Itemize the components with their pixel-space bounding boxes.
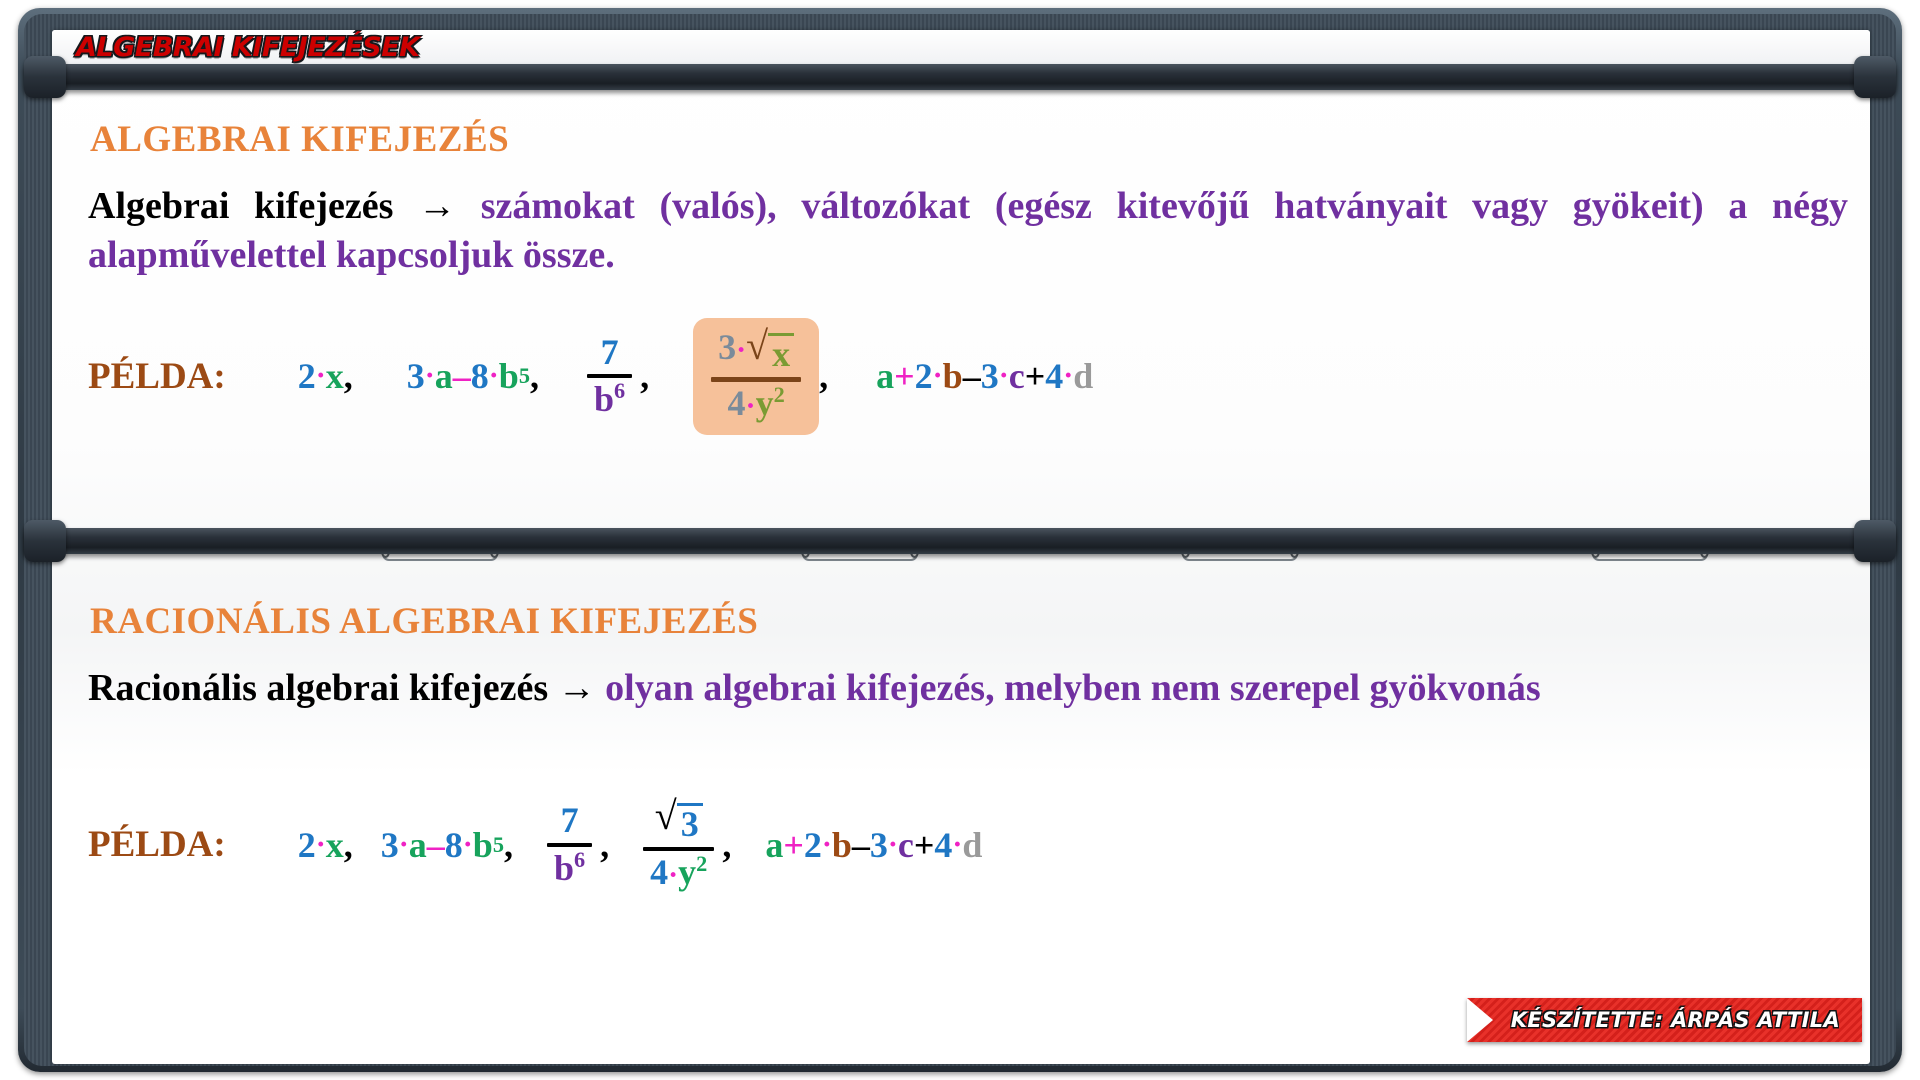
var-d: d (962, 824, 982, 866)
minus-sign: – (852, 824, 870, 866)
minus-sign: – (427, 824, 445, 866)
expression-2x: 2·x, (298, 355, 353, 397)
fraction-bar (587, 374, 632, 378)
denominator-4y2: 4·y2 (643, 854, 714, 892)
var-b: b (943, 355, 963, 397)
whiteboard-frame: ALGEBRAI KIFEJEZÉSEK ALGEBRAI KIFEJEZÉS … (18, 8, 1902, 1072)
denominator-b6: b6 (547, 850, 592, 888)
mul-dot: · (489, 361, 499, 391)
definition-term-1: Algebrai kifejezés (88, 185, 393, 227)
num-2: 2 (298, 355, 316, 397)
denominator-b6: b6 (587, 381, 632, 419)
clamp-bar-top (24, 64, 1896, 90)
section-heading-1: ALGEBRAI KIFEJEZÉS (90, 118, 509, 161)
denominator-4y2: 4·y2 (721, 385, 792, 423)
fraction-bar (547, 843, 592, 847)
comma: , (722, 824, 731, 866)
comma: , (504, 824, 513, 866)
exponent-2: 2 (696, 851, 707, 876)
expression-sum-1: a+2·b–3·c+4·d (876, 355, 1093, 397)
num-4: 4 (650, 852, 668, 892)
plus-sign: + (783, 824, 804, 866)
radical: √x (746, 328, 794, 374)
mul-dot: · (316, 361, 326, 391)
mul-dot: · (952, 830, 962, 860)
num-3: 3 (407, 355, 425, 397)
comma: , (530, 355, 539, 397)
expression-2x: 2·x, (298, 824, 353, 866)
radicand-3: 3 (677, 803, 703, 844)
mul-dot: · (1063, 361, 1073, 391)
example-label-1: PÉLDA: (88, 355, 226, 398)
mul-dot: · (425, 361, 435, 391)
fraction-bar (711, 377, 801, 382)
clamp-knob-right (1854, 520, 1896, 562)
comma: , (344, 355, 353, 397)
mul-dot: · (999, 361, 1009, 391)
comma: , (819, 355, 828, 397)
expression-3sqrtx-over-4y2: 3·√x 4·y2 , (693, 318, 828, 435)
var-b: b (499, 355, 519, 397)
highlight-box: 3·√x 4·y2 (693, 318, 819, 435)
arrow-glyph-2: → (558, 667, 596, 709)
mul-dot: · (822, 830, 832, 860)
var-x: x (326, 824, 344, 866)
var-x: x (326, 355, 344, 397)
num-2: 2 (915, 355, 933, 397)
expression-7-over-b6: 7 b6 , (587, 334, 649, 420)
num-4: 4 (1045, 355, 1063, 397)
var-y: y (756, 383, 774, 423)
mul-dot: · (888, 830, 898, 860)
arrow-glyph-1: → (418, 185, 456, 227)
var-b: b (832, 824, 852, 866)
plus-sign: + (914, 824, 935, 866)
numerator-sqrt-3: √3 (648, 798, 710, 844)
var-d: d (1073, 355, 1093, 397)
num-4: 4 (934, 824, 952, 866)
definition-term-2: Racionális algebrai kifejezés (88, 667, 548, 709)
num-2: 2 (804, 824, 822, 866)
ribbon-body: KÉSZÍTETTE: ÁRPÁS ATTILA (1467, 998, 1862, 1042)
comma: , (600, 824, 609, 866)
credit-text: KÉSZÍTETTE: ÁRPÁS ATTILA (1511, 1008, 1840, 1032)
num-8: 8 (471, 355, 489, 397)
var-a: a (409, 824, 427, 866)
comma: , (344, 824, 353, 866)
var-b: b (554, 848, 574, 888)
expression-sqrt3-over-4y2: √3 4·y2 , (643, 798, 731, 892)
var-c: c (898, 824, 914, 866)
definition-paragraph-2: Racionális algebrai kifejezés → olyan al… (88, 664, 1848, 713)
radical: √3 (655, 798, 703, 844)
mul-dot: · (933, 361, 943, 391)
radical-sign: √ (655, 798, 677, 834)
plus-sign: + (894, 355, 915, 397)
mul-dot: · (736, 334, 746, 367)
var-a: a (765, 824, 783, 866)
expression-3a-8b5: 3·a–8·b5, (407, 355, 539, 397)
num-3: 3 (981, 355, 999, 397)
expression-7-over-b6: 7 b6 , (547, 802, 609, 888)
examples-row-2: PÉLDA: 2·x, 3·a–8·b5, 7 b6 , (88, 798, 982, 892)
section-racionalis-algebrai-kifejezes: RACIONÁLIS ALGEBRAI KIFEJEZÉS Racionális… (52, 570, 1870, 1064)
section-algebrai-kifejezes: ALGEBRAI KIFEJEZÉS Algebrai kifejezés → … (52, 90, 1870, 560)
var-y: y (678, 852, 696, 892)
definition-body-2: olyan algebrai kifejezés, melyben nem sz… (605, 667, 1540, 709)
mul-dot: · (668, 859, 678, 892)
num-2: 2 (298, 824, 316, 866)
expression-3a-8b5: 3·a–8·b5, (381, 824, 513, 866)
minus-sign: – (963, 355, 981, 397)
ribbon-notch-icon (1467, 998, 1493, 1042)
num-3: 3 (718, 327, 736, 367)
numerator-3-sqrt-x: 3·√x (711, 328, 801, 374)
mul-dot: · (399, 830, 409, 860)
num-4: 4 (728, 383, 746, 423)
fraction: 7 b6 (587, 334, 632, 420)
fraction: 3·√x 4·y2 (711, 328, 801, 423)
num-3: 3 (381, 824, 399, 866)
numerator-7: 7 (554, 802, 586, 840)
fraction: √3 4·y2 (643, 798, 714, 892)
radical-sign: √ (746, 328, 768, 364)
var-a: a (876, 355, 894, 397)
definition-paragraph-1: Algebrai kifejezés → számokat (valós), v… (88, 182, 1848, 279)
exponent-2: 2 (774, 382, 785, 407)
plus-sign: + (1025, 355, 1046, 397)
radicand-x: x (768, 333, 794, 374)
clamp-bar-middle (24, 528, 1896, 554)
mul-dot: · (746, 390, 756, 423)
clamp-knob-left (24, 56, 66, 98)
examples-row-1: PÉLDA: 2·x, 3·a–8·b5, 7 b6 (88, 318, 1093, 435)
var-b: b (594, 379, 614, 419)
num-3: 3 (870, 824, 888, 866)
mul-dot: · (463, 830, 473, 860)
comma: , (640, 355, 649, 397)
exponent-6: 6 (574, 847, 585, 872)
section-heading-2: RACIONÁLIS ALGEBRAI KIFEJEZÉS (90, 600, 758, 643)
expression-sum-2: a+2·b–3·c+4·d (765, 824, 982, 866)
var-b: b (473, 824, 493, 866)
credit-ribbon: KÉSZÍTETTE: ÁRPÁS ATTILA (1441, 998, 1862, 1042)
clamp-knob-right (1854, 56, 1896, 98)
var-a: a (435, 355, 453, 397)
numerator-7: 7 (594, 334, 626, 372)
fraction: 7 b6 (547, 802, 592, 888)
minus-sign: – (453, 355, 471, 397)
example-label-2: PÉLDA: (88, 823, 226, 866)
num-8: 8 (445, 824, 463, 866)
page-title: ALGEBRAI KIFEJEZÉSEK (76, 32, 420, 63)
mul-dot: · (316, 830, 326, 860)
exponent-6: 6 (614, 378, 625, 403)
clamp-knob-left (24, 520, 66, 562)
var-c: c (1009, 355, 1025, 397)
